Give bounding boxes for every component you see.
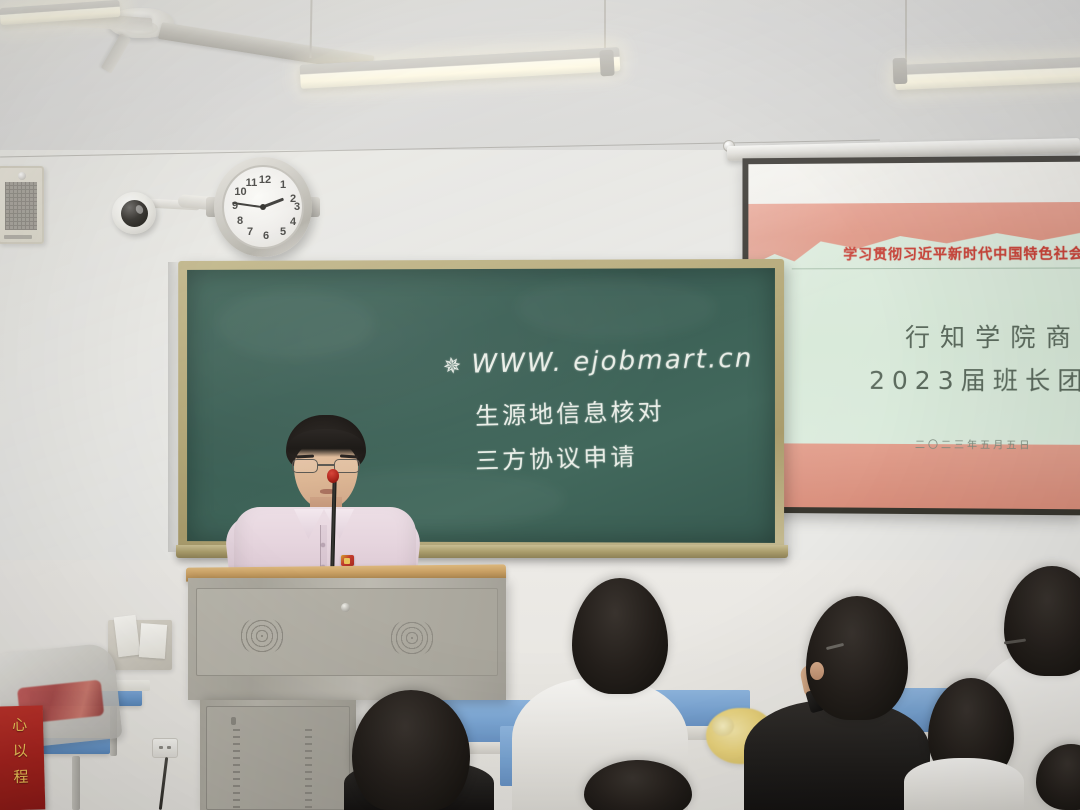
- slide-headline: 学习贯彻习近平新时代中国特色社会主: [843, 243, 1080, 264]
- paper-sheet: [139, 623, 167, 659]
- power-outlet-icon[interactable]: [152, 738, 178, 758]
- clock-numeral: 6: [259, 231, 273, 242]
- tube-light-cap: [893, 58, 908, 84]
- classroom-photo-scene: 12 1 2 3 4 5 6 7 8 9 10 11 学习贯彻习近平新时代中国特…: [0, 0, 1080, 810]
- chalk-smear: [217, 289, 376, 359]
- dome-camera-icon: [112, 192, 156, 234]
- slide-date: 二〇二三年五月五日: [915, 436, 1032, 452]
- chalkboard-line-1: ✵WWW. ejobmart.cn: [443, 343, 754, 380]
- slide-title-line-2: 2023届班长团支书会: [869, 361, 1080, 398]
- glasses-lens: [292, 459, 318, 473]
- clock-numeral: 5: [276, 227, 290, 238]
- podium-base: [200, 700, 356, 810]
- ear: [810, 662, 824, 680]
- lock-icon[interactable]: [341, 603, 350, 612]
- light-stem: [905, 0, 907, 62]
- red-banner-poster: 心 以 程: [0, 705, 45, 810]
- glasses-icon: [290, 459, 362, 474]
- red-banner-subtext: [3, 801, 41, 802]
- podium-speaker-grille: [389, 619, 435, 657]
- chalkboard-line-3: 三方协议申请: [475, 437, 638, 476]
- wall-clock: 12 1 2 3 4 5 6 7 8 9 10 11: [214, 157, 312, 257]
- microphone-icon: [327, 469, 339, 483]
- glasses-lens: [334, 459, 360, 473]
- clock-numeral: 7: [243, 227, 257, 238]
- podium-body: [188, 578, 506, 700]
- podium-latch[interactable]: [231, 717, 236, 725]
- clock-numeral: 1: [276, 180, 290, 191]
- light-stem: [604, 0, 606, 50]
- podium-vent: [305, 729, 312, 810]
- clock-center-cap: [260, 204, 266, 210]
- shirt-button: [321, 543, 325, 547]
- tube-light-cap: [599, 50, 614, 77]
- speaker-grille: [5, 182, 37, 230]
- star-icon: ✵: [441, 353, 465, 381]
- wall-speaker-box: [0, 166, 44, 244]
- clock-numeral: 12: [258, 175, 272, 186]
- vent-slot: [4, 235, 32, 239]
- chalk-smear: [515, 278, 716, 339]
- camera-lens: [121, 200, 148, 227]
- slide-title-line-1: 行知学院商学院: [905, 318, 1080, 354]
- podium-speaker-grille: [239, 617, 285, 655]
- clock-numeral: 8: [233, 216, 247, 227]
- paper-sheet: [114, 615, 141, 657]
- desk-leg: [72, 756, 80, 810]
- party-emblem-badge-icon: [341, 555, 354, 566]
- audience-head: [352, 690, 470, 810]
- chalkboard-url: WWW. ejobmart.cn: [471, 343, 754, 379]
- podium-vent: [233, 729, 240, 810]
- podium-base-panel: [206, 706, 350, 810]
- screw-icon: [18, 172, 26, 180]
- chalkboard-line-2: 生源地信息核对: [475, 391, 666, 431]
- clock-numeral: 11: [243, 178, 260, 189]
- clock-face: 12 1 2 3 4 5 6 7 8 9 10 11: [222, 165, 304, 249]
- clock-numeral: 3: [290, 202, 304, 213]
- projection-screen: 学习贯彻习近平新时代中国特色社会主 行知学院商学院 2023届班长团支书会 二〇…: [742, 156, 1080, 516]
- red-banner-text: 心 以 程: [0, 711, 43, 790]
- red-banner-char: 心: [0, 711, 41, 738]
- red-banner-char: 以: [0, 737, 42, 764]
- slide-red-band-bottom: [748, 443, 1080, 509]
- podium-front-panel: [196, 588, 498, 676]
- audience-body: [904, 758, 1024, 810]
- glasses-bridge: [318, 464, 334, 466]
- red-banner-char: 程: [0, 763, 43, 790]
- projected-slide: 学习贯彻习近平新时代中国特色社会主 行知学院商学院 2023届班长团支书会 二〇…: [748, 162, 1080, 510]
